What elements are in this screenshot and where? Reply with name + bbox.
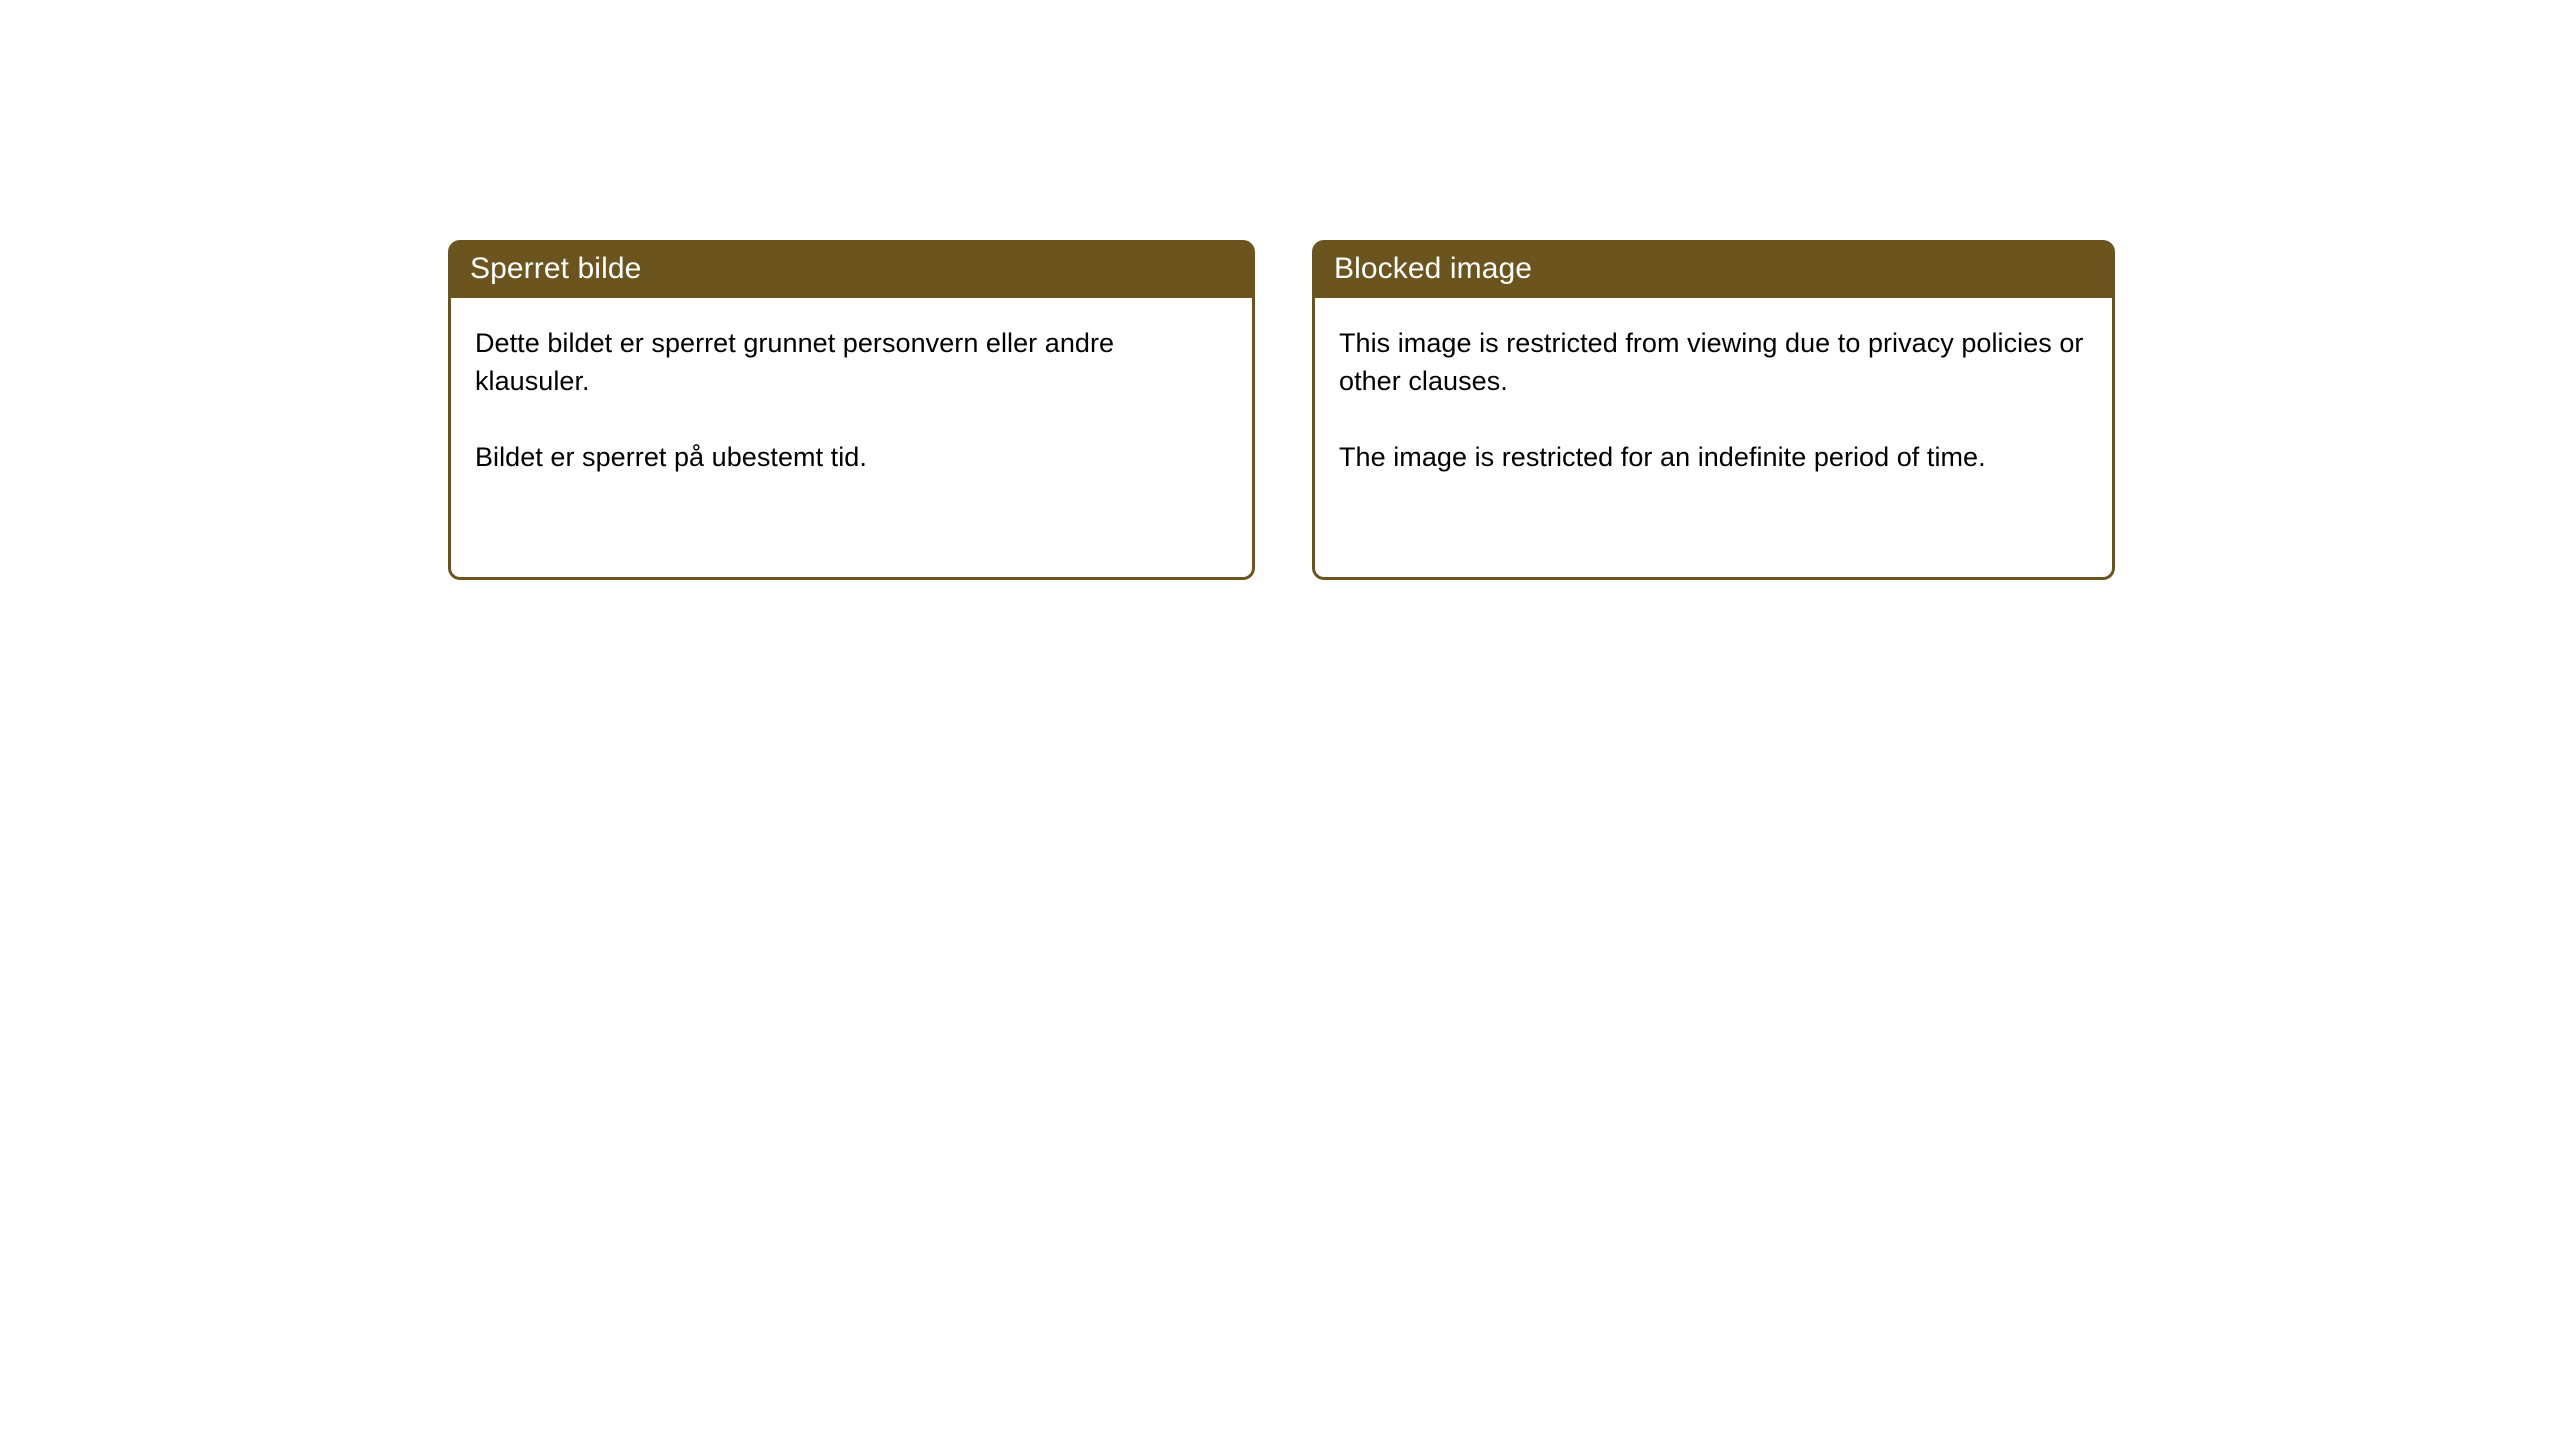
blocked-image-notice-card-english: Blocked image This image is restricted f… (1312, 240, 2115, 580)
card-paragraph-reason-english: This image is restricted from viewing du… (1339, 324, 2088, 400)
card-paragraph-duration-norwegian: Bildet er sperret på ubestemt tid. (475, 438, 1228, 476)
card-title-norwegian: Sperret bilde (470, 252, 641, 286)
card-title-english: Blocked image (1334, 252, 1532, 286)
card-paragraph-duration-english: The image is restricted for an indefinit… (1339, 438, 2088, 476)
card-body-norwegian: Dette bildet er sperret grunnet personve… (448, 298, 1255, 580)
blocked-image-notice-card-norwegian: Sperret bilde Dette bildet er sperret gr… (448, 240, 1255, 580)
card-header-norwegian: Sperret bilde (448, 240, 1255, 298)
card-body-english: This image is restricted from viewing du… (1312, 298, 2115, 580)
card-header-english: Blocked image (1312, 240, 2115, 298)
page-canvas: Sperret bilde Dette bildet er sperret gr… (0, 0, 2560, 1440)
card-paragraph-reason-norwegian: Dette bildet er sperret grunnet personve… (475, 324, 1228, 400)
